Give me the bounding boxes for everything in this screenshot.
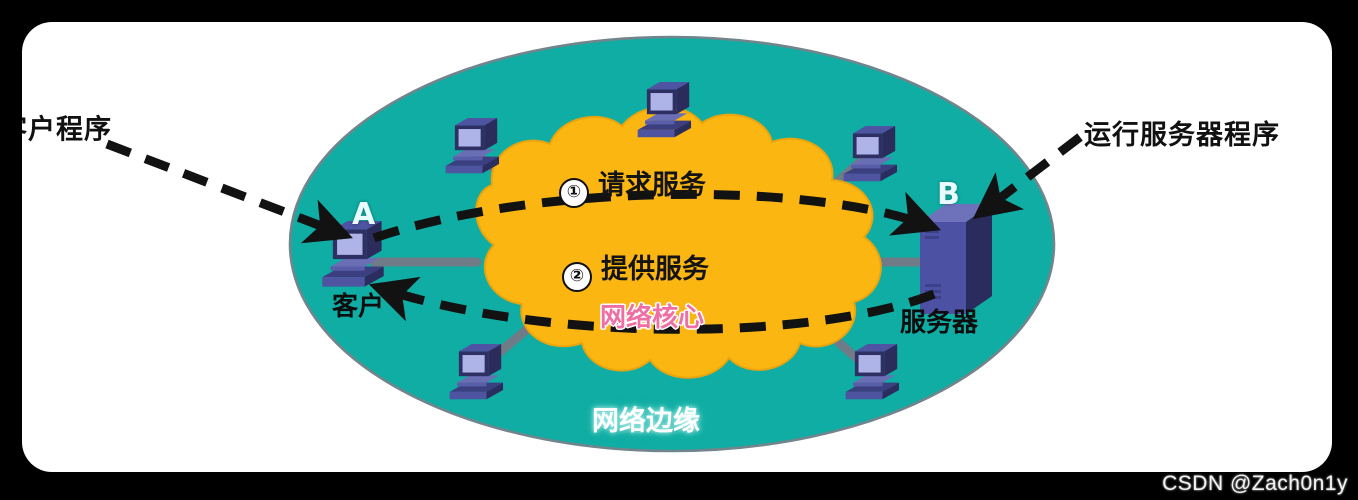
- annotation-arrow-right: [982, 137, 1080, 212]
- annotation-arrow-left: [107, 144, 342, 234]
- figure-card: 运行客户程序 运行服务器程序 A 客户 B 服务器 ①请求服务 ②提供服务 网络…: [22, 22, 1332, 472]
- network-core-label: 网络核心: [600, 305, 704, 331]
- flow-provide-text: 提供服务: [601, 254, 709, 285]
- annotation-right-label: 运行服务器程序: [1084, 122, 1280, 149]
- flow-arrows-layer: [22, 22, 1332, 472]
- server-name-label: 服务器: [900, 310, 978, 336]
- flow-provide-label: ②提供服务: [562, 256, 709, 292]
- diagram-stage: 运行客户程序 运行服务器程序 A 客户 B 服务器 ①请求服务 ②提供服务 网络…: [22, 22, 1332, 472]
- client-name-label: 客户: [332, 294, 384, 320]
- flow-number-2: ②: [562, 262, 592, 292]
- flow-request-label: ①请求服务: [559, 172, 706, 208]
- network-edge-label: 网络边缘: [592, 408, 700, 435]
- watermark: CSDN @Zach0n1y: [1162, 472, 1348, 496]
- annotation-left-label: 运行客户程序: [22, 117, 112, 144]
- client-letter: A: [352, 200, 375, 230]
- figure-root: 运行客户程序 运行服务器程序 A 客户 B 服务器 ①请求服务 ②提供服务 网络…: [0, 0, 1358, 500]
- flow-request-text: 请求服务: [598, 170, 706, 201]
- flow-number-1: ①: [559, 178, 589, 208]
- server-letter: B: [937, 180, 960, 210]
